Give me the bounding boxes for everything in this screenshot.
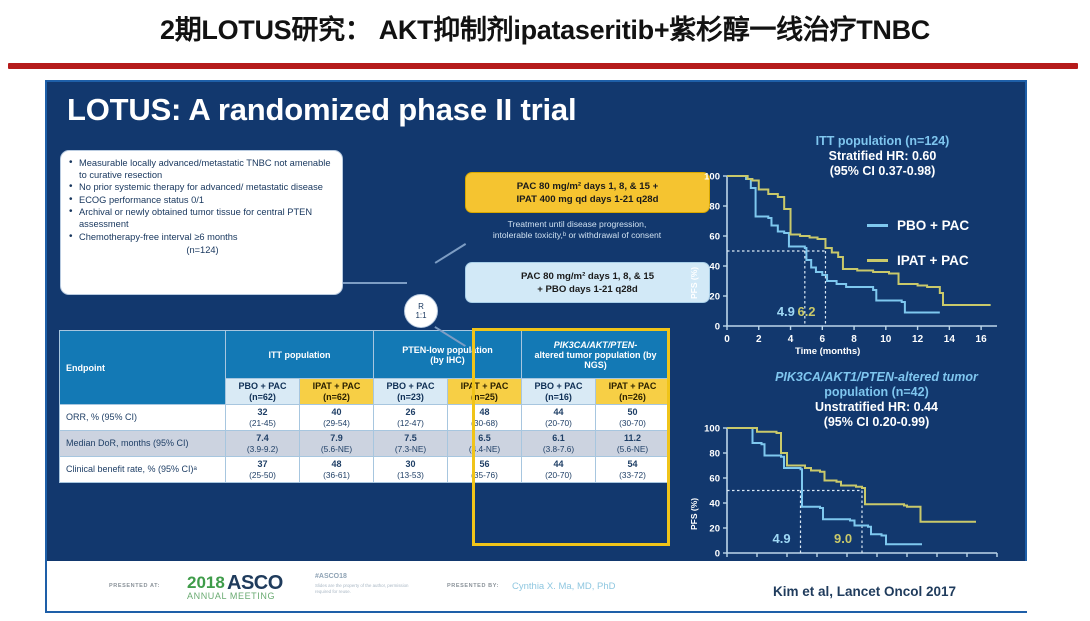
presented-by-label: PRESENTED BY: [447, 583, 499, 589]
asco-meeting-subtitle: ANNUAL MEETING [187, 591, 275, 601]
citation: Kim et al, Lancet Oncol 2017 [773, 584, 956, 599]
cell-cbr-1: 48(36-61) [300, 457, 374, 483]
eligibility-criteria-box: Measurable locally advanced/metastatic T… [60, 150, 343, 295]
svg-text:8: 8 [851, 334, 857, 345]
presenter-name: Cynthia X. Ma, MD, PhD [512, 581, 615, 592]
cell-value: 7.5 [375, 433, 446, 444]
cell-orr-2: 26(12-47) [374, 405, 448, 431]
cell-value: 40 [301, 407, 372, 418]
randomization-ratio: 1:1 [415, 311, 426, 320]
cell-ci: (35-76) [449, 470, 520, 481]
svg-text:6: 6 [820, 334, 826, 345]
cell-ci: (5.6-NE) [301, 444, 372, 455]
table-header-populations: Endpoint ITT population PTEN-low populat… [60, 331, 670, 379]
table-row: ORR, % (95% CI) 32(21-45) 40(29-54) 26(1… [60, 405, 670, 431]
cell-ci: (3.8-7.6) [523, 444, 594, 455]
randomization-spoke-in [343, 282, 407, 284]
cell-cbr-3: 56(35-76) [448, 457, 522, 483]
cell-value: 48 [301, 459, 372, 470]
eligibility-list: Measurable locally advanced/metastatic T… [69, 158, 336, 243]
svg-text:14: 14 [944, 334, 956, 345]
presentation-slide: LOTUS: A randomized phase II trial Measu… [45, 80, 1027, 613]
svg-text:10: 10 [880, 334, 892, 345]
legend-swatch-ipat-icon [867, 259, 888, 262]
results-table: Endpoint ITT population PTEN-low populat… [59, 330, 670, 483]
chart-biomarker-plot: 0204060801000246810121416184.99.0 [685, 370, 1020, 585]
list-item: Chemotherapy-free interval ≥6 months [69, 232, 336, 244]
cell-value: 7.4 [227, 433, 298, 444]
chart-itt-ylabel: PFS (%) [689, 267, 699, 299]
cell-orr-4: 44(20-70) [522, 405, 596, 431]
asco-disclaimer: Slides are the property of the author, p… [315, 583, 410, 595]
header-arm-3-name: IPAT + PAC [449, 381, 520, 392]
cell-ci: (7.3-NE) [375, 444, 446, 455]
chart-biomarker-ylabel: PFS (%) [689, 498, 699, 530]
cell-value: 54 [597, 459, 668, 470]
cell-value: 37 [227, 459, 298, 470]
cell-dor-3: 6.5(4.4-NE) [448, 431, 522, 457]
svg-text:60: 60 [709, 231, 720, 242]
cell-ci: (33-72) [597, 470, 668, 481]
header-arm-2: PBO + PAC (n=23) [374, 379, 448, 405]
eligibility-sample-size: (n=124) [69, 245, 336, 255]
cell-orr-5: 50(30-70) [596, 405, 670, 431]
header-arm-5-name: IPAT + PAC [597, 381, 668, 392]
treatment-arm-ipat: PAC 80 mg/m² days 1, 8, & 15 + IPAT 400 … [465, 172, 710, 213]
svg-text:4: 4 [788, 334, 794, 345]
cell-dor-1: 7.9(5.6-NE) [300, 431, 374, 457]
cell-value: 11.2 [597, 433, 668, 444]
header-arm-3-n: (n=25) [449, 392, 520, 403]
svg-text:40: 40 [709, 498, 720, 509]
cell-ci: (30-70) [597, 418, 668, 429]
arm-pbo-line1: PAC 80 mg/m² days 1, 8, & 15 [472, 270, 703, 283]
treatment-duration-line2: intolerable toxicity,ᵇ or withdrawal of … [442, 230, 712, 241]
svg-text:40: 40 [709, 261, 720, 272]
treatment-duration-line1: Treatment until disease progression, [442, 219, 712, 230]
cell-value: 44 [523, 459, 594, 470]
asco-hashtag: #ASCO18 [315, 573, 347, 580]
header-arm-5: IPAT + PAC (n=26) [596, 379, 670, 405]
cell-value: 30 [375, 459, 446, 470]
cell-ci: (29-54) [301, 418, 372, 429]
row-label-orr: ORR, % (95% CI) [60, 405, 226, 431]
cell-dor-4: 6.1(3.8-7.6) [522, 431, 596, 457]
svg-text:60: 60 [709, 473, 720, 484]
header-ngs-line1: PIK3CA/AKT/PTEN- [523, 340, 668, 350]
cell-value: 6.5 [449, 433, 520, 444]
header-arm-1-name: IPAT + PAC [301, 381, 372, 392]
cell-ci: (25-50) [227, 470, 298, 481]
treatment-duration-note: Treatment until disease progression, int… [442, 219, 712, 241]
list-item: ECOG performance status 0/1 [69, 195, 336, 207]
title-divider [8, 63, 1078, 69]
km-chart-biomarker: PIK3CA/AKT1/PTEN-altered tumor populatio… [685, 370, 1020, 585]
table-row: Clinical benefit rate, % (95% CI)ᵃ 37(25… [60, 457, 670, 483]
median-pfs-label-0: 4.9 [773, 531, 791, 546]
km-chart-itt: ITT population (n=124) Stratified HR: 0.… [685, 134, 1020, 364]
svg-text:16: 16 [976, 334, 988, 345]
arm-pbo-line2: + PBO days 1-21 q28d [472, 283, 703, 296]
cell-value: 26 [375, 407, 446, 418]
randomization-spoke-upper [435, 243, 466, 263]
chart-itt-xlabel: Time (months) [795, 346, 860, 357]
legend-label-pbo: PBO + PAC [897, 218, 969, 233]
cell-orr-3: 48(30-68) [448, 405, 522, 431]
header-pten-low-population: PTEN-low population (by IHC) [374, 331, 522, 379]
legend-label-ipat: IPAT + PAC [897, 253, 969, 268]
median-pfs-label-1: 9.0 [834, 531, 852, 546]
cell-value: 50 [597, 407, 668, 418]
row-label-cbr: Clinical benefit rate, % (95% CI)ᵃ [60, 457, 226, 483]
cell-value: 6.1 [523, 433, 594, 444]
cell-value: 56 [449, 459, 520, 470]
header-arm-4-n: (n=16) [523, 392, 594, 403]
cell-cbr-2: 30(13-53) [374, 457, 448, 483]
cell-ci: (20-70) [523, 418, 594, 429]
cell-cbr-5: 54(33-72) [596, 457, 670, 483]
header-arm-1-n: (n=62) [301, 392, 372, 403]
list-item: No prior systemic therapy for advanced/ … [69, 182, 336, 194]
header-arm-4: PBO + PAC (n=16) [522, 379, 596, 405]
header-endpoint: Endpoint [60, 331, 226, 405]
page-title: 2期LOTUS研究： AKT抑制剂ipataseritib+紫杉醇一线治疗TNB… [0, 8, 1090, 47]
arm-ipat-line1: PAC 80 mg/m² days 1, 8, & 15 + [472, 180, 703, 193]
list-item: Measurable locally advanced/metastatic T… [69, 158, 336, 181]
cell-ci: (36-61) [301, 470, 372, 481]
header-arm-0: PBO + PAC (n=62) [226, 379, 300, 405]
header-arm-2-n: (n=23) [375, 392, 446, 403]
header-arm-0-n: (n=62) [227, 392, 298, 403]
svg-text:12: 12 [912, 334, 924, 345]
header-arm-0-name: PBO + PAC [227, 381, 298, 392]
svg-text:20: 20 [709, 523, 720, 534]
cell-cbr-4: 44(20-70) [522, 457, 596, 483]
cell-ci: (3.9-9.2) [227, 444, 298, 455]
svg-text:100: 100 [704, 423, 720, 434]
legend-item-ipat: IPAT + PAC [867, 253, 969, 268]
cell-ci: (30-68) [449, 418, 520, 429]
cell-orr-0: 32(21-45) [226, 405, 300, 431]
median-pfs-label-0: 4.9 [777, 304, 795, 319]
cell-ci: (5.6-NE) [597, 444, 668, 455]
cell-ci: (20-70) [523, 470, 594, 481]
list-item: Archival or newly obtained tumor tissue … [69, 207, 336, 230]
cell-value: 32 [227, 407, 298, 418]
randomization-letter: R [418, 302, 424, 311]
cell-ci: (4.4-NE) [449, 444, 520, 455]
arm-ipat-line2: IPAT 400 mg qd days 1-21 q28d [472, 193, 703, 206]
header-itt-population: ITT population [226, 331, 374, 379]
cell-ci: (21-45) [227, 418, 298, 429]
svg-text:0: 0 [715, 321, 720, 332]
header-arm-3: IPAT + PAC (n=25) [448, 379, 522, 405]
header-pten-low-line1: PTEN-low population [375, 345, 520, 355]
cell-ci: (12-47) [375, 418, 446, 429]
randomization-node: R 1:1 [404, 294, 438, 328]
asco-year: 2018 [187, 573, 225, 593]
km-svg: 020406080100024681012141618 [685, 370, 1020, 585]
header-ngs-population: PIK3CA/AKT/PTEN- altered tumor populatio… [522, 331, 670, 379]
cell-ci: (13-53) [375, 470, 446, 481]
header-arm-2-name: PBO + PAC [375, 381, 446, 392]
svg-text:100: 100 [704, 171, 720, 182]
row-label-dor: Median DoR, months (95% CI) [60, 431, 226, 457]
legend-swatch-pbo-icon [867, 224, 888, 227]
presented-at-label: PRESENTED AT: [109, 583, 160, 589]
km-curve-pbopac [727, 428, 922, 544]
svg-text:0: 0 [715, 548, 720, 559]
cell-value: 44 [523, 407, 594, 418]
km-svg: 0204060801000246810121416 [685, 134, 1020, 364]
km-curve-ipatpac [727, 428, 976, 522]
slide-title: LOTUS: A randomized phase II trial [67, 92, 576, 128]
cell-dor-5: 11.2(5.6-NE) [596, 431, 670, 457]
header-arm-1: IPAT + PAC (n=62) [300, 379, 374, 405]
header-pten-low-line2: (by IHC) [375, 355, 520, 365]
svg-text:80: 80 [709, 201, 720, 212]
cell-value: 7.9 [301, 433, 372, 444]
km-curve-pbopac [727, 176, 940, 313]
km-curve-ipatpac [727, 176, 991, 305]
chart-itt-plot: 02040608010002468101214164.96.2 [685, 134, 1020, 364]
svg-text:0: 0 [724, 334, 730, 345]
svg-text:80: 80 [709, 448, 720, 459]
header-ngs-line2: altered tumor population (by NGS) [523, 350, 668, 370]
cell-value: 48 [449, 407, 520, 418]
header-arm-5-n: (n=26) [597, 392, 668, 403]
legend-item-pbo: PBO + PAC [867, 218, 969, 233]
cell-orr-1: 40(29-54) [300, 405, 374, 431]
table-row: Median DoR, months (95% CI) 7.4(3.9-9.2)… [60, 431, 670, 457]
median-pfs-label-1: 6.2 [797, 304, 815, 319]
treatment-arm-pbo: PAC 80 mg/m² days 1, 8, & 15 + PBO days … [465, 262, 710, 303]
cell-cbr-0: 37(25-50) [226, 457, 300, 483]
cell-dor-2: 7.5(7.3-NE) [374, 431, 448, 457]
svg-text:20: 20 [709, 291, 720, 302]
cell-dor-0: 7.4(3.9-9.2) [226, 431, 300, 457]
header-arm-4-name: PBO + PAC [523, 381, 594, 392]
svg-text:2: 2 [756, 334, 762, 345]
